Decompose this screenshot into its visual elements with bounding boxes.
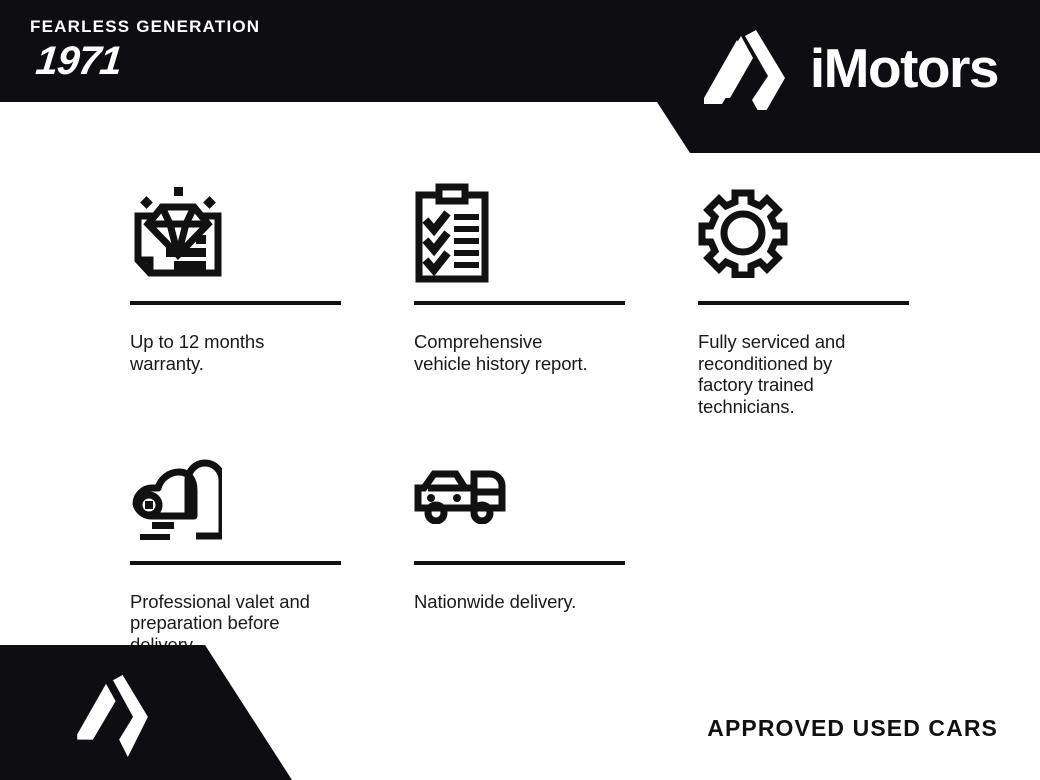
campaign-lockup: FEARLESS GENERATION 1971 bbox=[30, 18, 330, 81]
feature-text: Fully serviced and reconditioned by fact… bbox=[698, 331, 909, 418]
gear-icon bbox=[698, 188, 788, 283]
feature-card-serviced: Fully serviced and reconditioned by fact… bbox=[698, 185, 909, 418]
icon-container bbox=[414, 185, 625, 285]
icon-container bbox=[130, 185, 341, 285]
feature-divider bbox=[130, 301, 341, 305]
feature-card-valet: Professional valet and preparation befor… bbox=[130, 445, 341, 656]
feature-grid: Up to 12 months warranty. bbox=[130, 185, 920, 655]
feature-text: Up to 12 months warranty. bbox=[130, 331, 341, 374]
clipboard-checklist-icon bbox=[414, 183, 490, 288]
feature-row-1: Up to 12 months warranty. bbox=[130, 185, 920, 418]
feature-divider bbox=[414, 561, 625, 565]
vacuum-cleaner-icon bbox=[130, 444, 222, 545]
campaign-title: FEARLESS GENERATION bbox=[30, 18, 330, 35]
warranty-certificate-icon bbox=[130, 183, 226, 288]
footer-imotors-chevron-mark-icon bbox=[70, 668, 156, 769]
campaign-year: 1971 bbox=[34, 41, 334, 81]
feature-card-delivery: Nationwide delivery. bbox=[414, 445, 625, 656]
imotors-chevron-mark-icon bbox=[696, 22, 794, 115]
page-header: FEARLESS GENERATION 1971 iMotors bbox=[0, 0, 1040, 153]
icon-container bbox=[698, 185, 909, 285]
feature-card-history-report: Comprehensive vehicle history report. bbox=[414, 185, 625, 418]
icon-container bbox=[414, 445, 625, 545]
feature-text: Comprehensive vehicle history report. bbox=[414, 331, 625, 374]
brand-lockup[interactable]: iMotors bbox=[696, 22, 998, 115]
feature-divider bbox=[414, 301, 625, 305]
feature-row-2: Professional valet and preparation befor… bbox=[130, 445, 920, 656]
feature-text: Nationwide delivery. bbox=[414, 591, 625, 613]
icon-container bbox=[130, 445, 341, 545]
feature-divider bbox=[698, 301, 909, 305]
footer-tagline: APPROVED USED CARS bbox=[707, 715, 998, 742]
feature-divider bbox=[130, 561, 341, 565]
car-transporter-truck-icon bbox=[414, 460, 506, 529]
feature-card-warranty: Up to 12 months warranty. bbox=[130, 185, 341, 418]
brand-name: iMotors bbox=[810, 41, 998, 96]
